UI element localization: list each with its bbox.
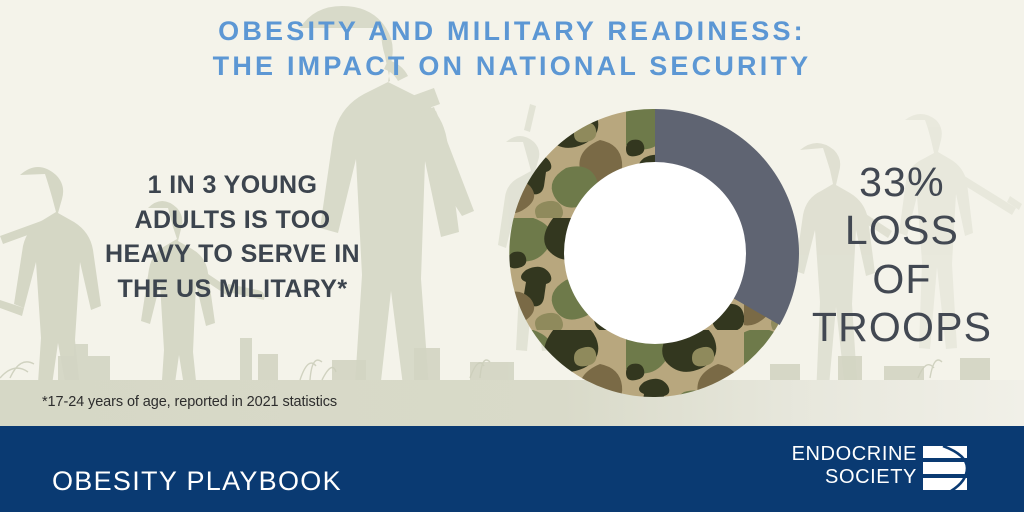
stat-statement: 1 IN 3 YOUNG ADULTS IS TOO HEAVY TO SERV… [60,168,405,306]
donut-chart-svg [508,106,802,400]
callout-line-4: TROOPS [796,303,1008,351]
endocrine-society-mark-icon [923,445,975,493]
infographic-canvas: OBESITY AND MILITARY READINESS: THE IMPA… [0,0,1024,512]
endocrine-society-logo[interactable]: ENDOCRINE SOCIETY [795,443,975,495]
stat-line-4: THE US MILITARY* [60,272,405,307]
logo-line-1: ENDOCRINE [789,443,917,466]
callout-line-3: OF [796,255,1008,303]
playbook-label: OBESITY PLAYBOOK [52,466,342,497]
stat-line-2: ADULTS IS TOO [60,203,405,238]
donut-chart [508,106,802,400]
logo-line-2: SOCIETY [789,466,917,489]
footnote-text: *17-24 years of age, reported in 2021 st… [42,394,337,410]
donut-hole [564,162,746,344]
stat-line-3: HEAVY TO SERVE IN [60,237,405,272]
logo-wordmark: ENDOCRINE SOCIETY [789,443,917,489]
callout-loss-of-troops: 33% LOSS OF TROOPS [796,158,1008,352]
stat-line-1: 1 IN 3 YOUNG [60,168,405,203]
title-line-2: THE IMPACT ON NATIONAL SECURITY [0,49,1024,84]
page-title: OBESITY AND MILITARY READINESS: THE IMPA… [0,14,1024,83]
callout-percentage: 33% [796,158,1008,206]
title-line-1: OBESITY AND MILITARY READINESS: [0,14,1024,49]
callout-line-2: LOSS [796,206,1008,254]
